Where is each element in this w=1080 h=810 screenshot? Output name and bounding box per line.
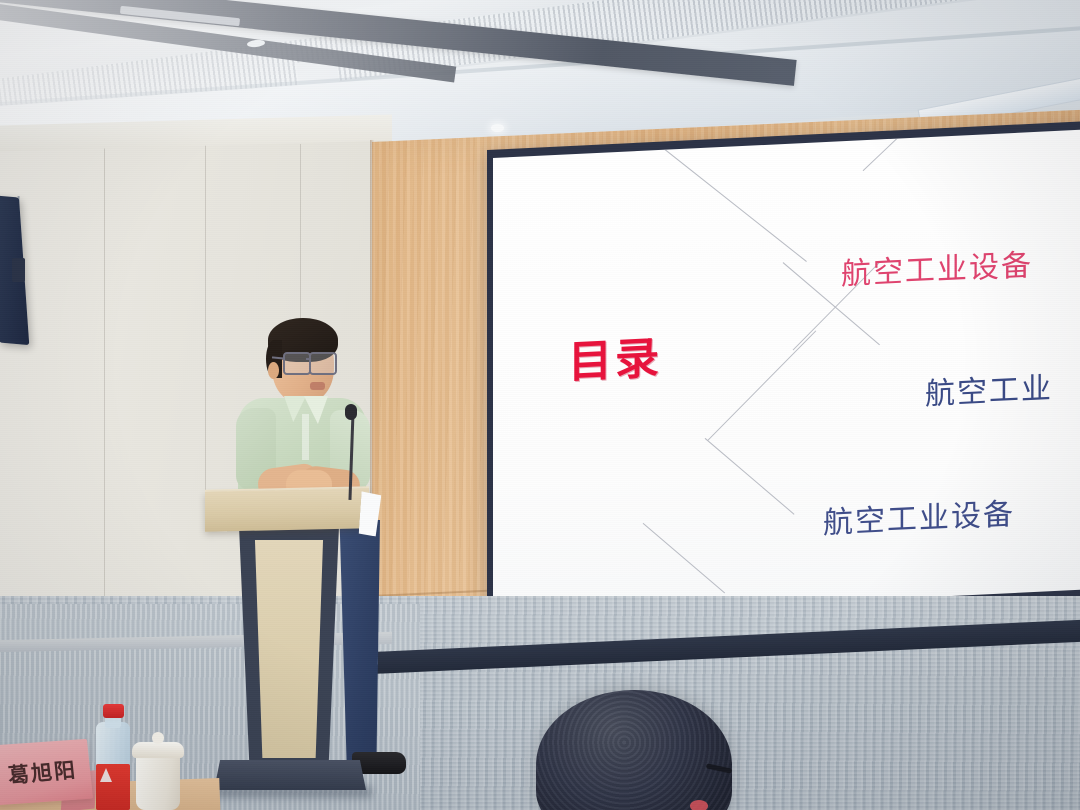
wall-seam (104, 140, 105, 640)
podium-front-panel (252, 540, 326, 758)
nameplate: 葛旭阳 (0, 739, 93, 805)
slide-toc-item-3: 航空工业设备 (823, 489, 1015, 542)
speaker-ear (268, 362, 279, 379)
slide-toc-item-2: 航空工业 (925, 363, 1053, 413)
nameplate-text: 葛旭阳 (6, 754, 78, 790)
slide-title: 目录 (568, 322, 662, 391)
slide-canvas: 目录 航空工业设备 航空工业 航空工业设备 (493, 130, 1080, 618)
audience-foreground-object (690, 800, 708, 810)
chevron-line (708, 330, 817, 440)
glasses-icon (283, 352, 311, 375)
chevron-line (705, 438, 795, 515)
shirt-placket (302, 414, 309, 460)
wall-seam (205, 142, 206, 502)
glasses-icon (309, 352, 337, 375)
microphone-icon (345, 404, 357, 420)
tea-cup-knob (152, 732, 164, 744)
chevron-line (661, 146, 807, 262)
speaker-mouth (310, 382, 325, 390)
chevron-line (643, 523, 725, 593)
water-bottle-label (96, 764, 130, 810)
tea-cup-lid (132, 742, 184, 758)
tea-cup (136, 752, 180, 810)
water-bottle-cap (103, 704, 124, 718)
glasses-bridge (306, 358, 311, 360)
podium-base (214, 760, 366, 790)
slide-toc-item-1: 航空工业设备 (841, 240, 1033, 293)
presentation-photo: 目录 航空工业设备 航空工业 航空工业设备 葛旭阳 (0, 0, 1080, 810)
projection-screen[interactable]: 目录 航空工业设备 航空工业 航空工业设备 (493, 130, 1080, 618)
speaker-bracket (12, 258, 25, 282)
podium-desktop (205, 488, 369, 531)
